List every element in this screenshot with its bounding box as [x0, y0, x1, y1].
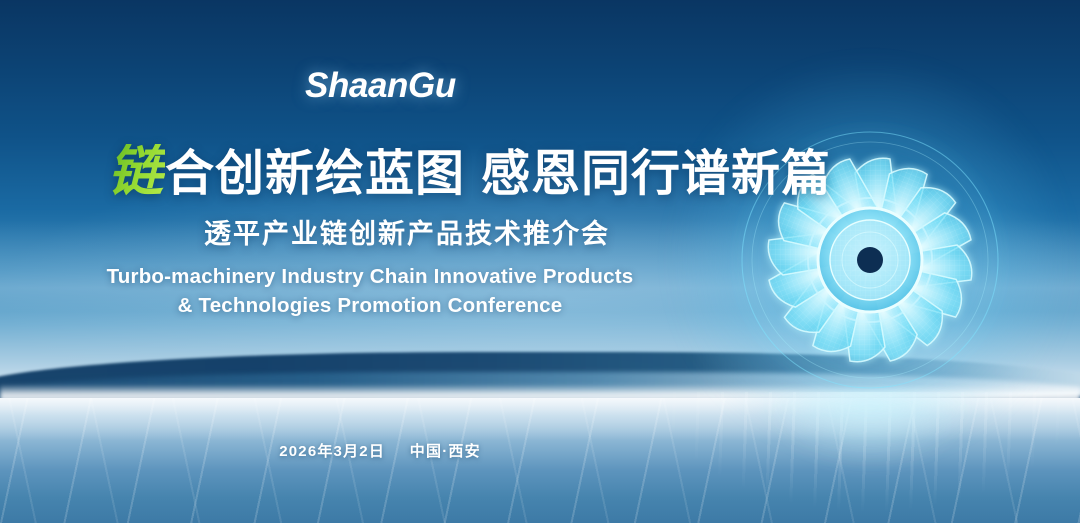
title-accent-character: 链: [108, 144, 165, 199]
subtitle-english-line-2: & Technologies Promotion Conference: [0, 291, 740, 320]
event-meta: 2026年3月2日 中国·西安: [0, 440, 760, 461]
title-part-one: 合创新绘蓝图: [165, 150, 465, 199]
subtitle-chinese: 透平产业链创新产品技术推介会: [204, 212, 610, 251]
turbine-water-reflection: [715, 395, 1025, 523]
event-location: 中国·西安: [410, 443, 481, 460]
subtitle-english: Turbo-machinery Industry Chain Innovativ…: [0, 262, 740, 320]
subtitle-english-line-1: Turbo-machinery Industry Chain Innovativ…: [0, 262, 740, 291]
conference-banner: ShaanGu 链 合创新绘蓝图 感恩同行谱新篇 透平产业链创新产品技术推介会 …: [0, 0, 1080, 523]
title-part-two: 感恩同行谱新篇: [481, 150, 831, 199]
event-date: 2026年3月2日: [279, 443, 385, 460]
brand-logo: ShaanGu: [305, 66, 456, 106]
main-title: 链 合创新绘蓝图 感恩同行谱新篇: [108, 144, 831, 199]
